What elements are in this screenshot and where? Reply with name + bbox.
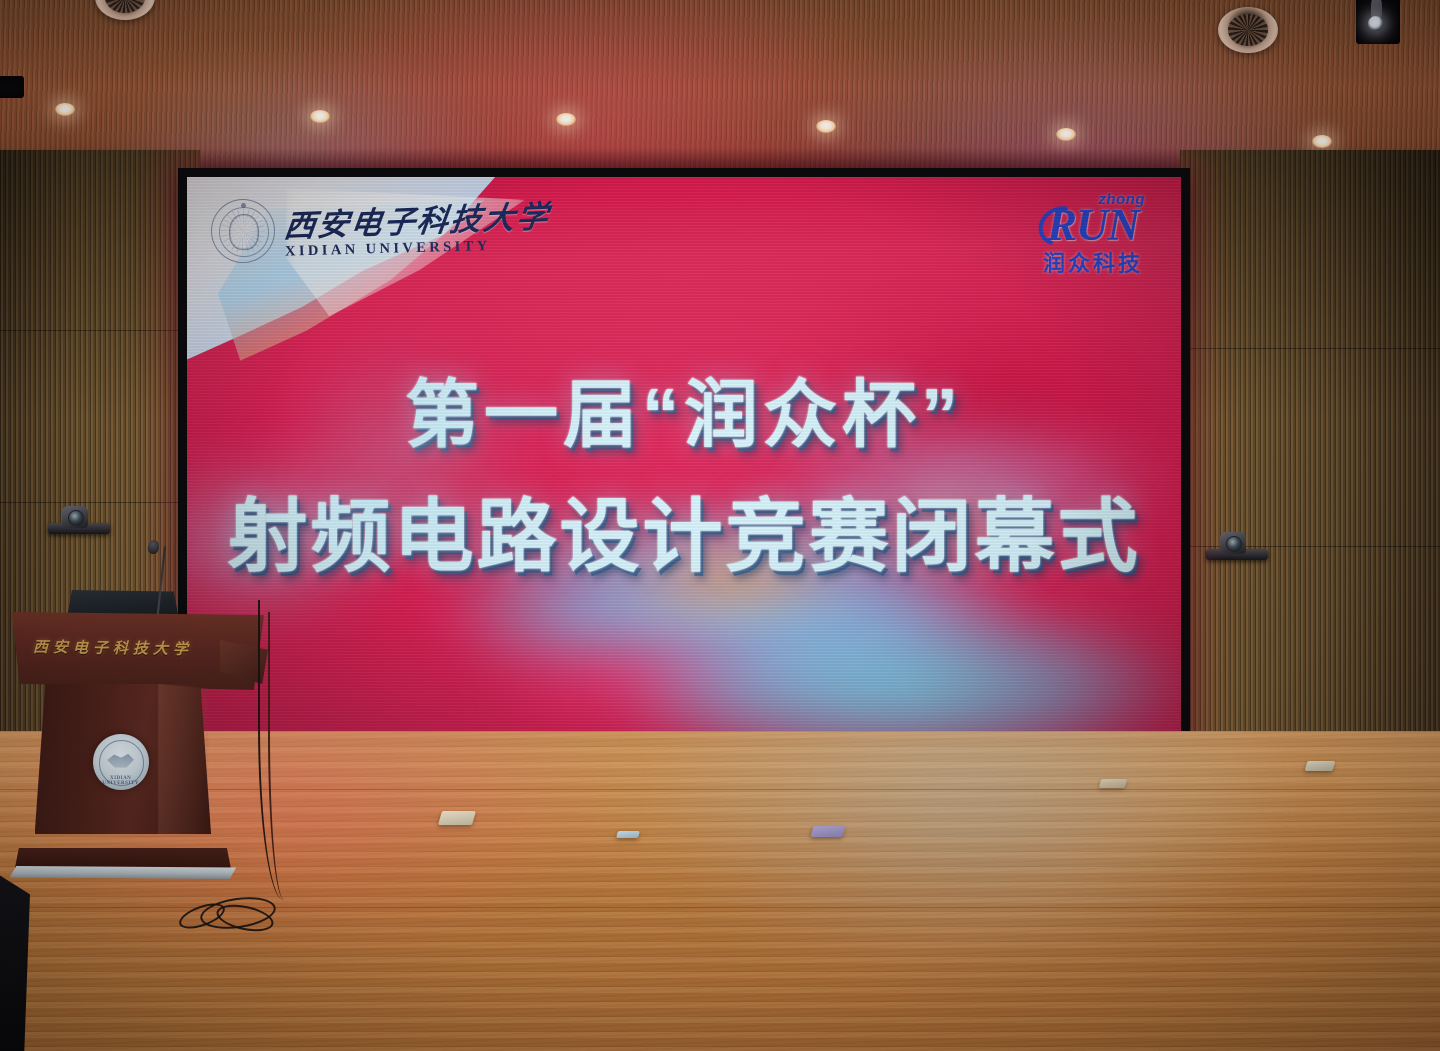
lectern-engraved-text: 西安电子科技大学	[33, 636, 193, 659]
university-logo: 西安电子科技大学 XIDIAN UNIVERSITY	[211, 199, 549, 263]
background-swirl-cyan-3	[764, 423, 1162, 546]
recessed-downlight-icon	[1312, 135, 1332, 148]
recessed-downlight-icon	[556, 113, 576, 126]
track-spotlight-icon	[1356, 0, 1400, 44]
lectern-foot-trim	[9, 866, 236, 879]
xidian-seal-icon	[211, 199, 275, 263]
floor-outlet-icon	[1305, 761, 1336, 771]
lectern-emblem: XIDIAN UNIVERSITY	[93, 734, 149, 790]
background-swirl-cyan-1	[445, 513, 1022, 703]
background-swirl-orange-1	[624, 547, 843, 614]
ceiling-slot-recess	[0, 76, 24, 98]
led-display-frame: 西安电子科技大学 XIDIAN UNIVERSITY RUNzhong 润众科技…	[178, 168, 1190, 746]
camera-lens	[1226, 536, 1242, 552]
spotlight-lamp	[1368, 16, 1383, 31]
ceremony-title-line-1: 第一届“润众杯”	[187, 355, 1181, 462]
recessed-downlight-icon	[310, 110, 330, 123]
ptz-camera-icon	[48, 506, 110, 536]
ptz-camera-icon	[1206, 532, 1268, 562]
floor-outlet-icon	[616, 831, 640, 838]
university-name-block: 西安电子科技大学 XIDIAN UNIVERSITY	[285, 206, 549, 256]
screen-bloom	[267, 334, 525, 592]
emblem-english-name: XIDIAN UNIVERSITY	[93, 776, 149, 786]
recessed-downlight-icon	[816, 120, 836, 133]
background-swirl-orange-2	[883, 502, 1022, 547]
recessed-downlight-icon	[55, 103, 75, 116]
confidence-monitor-icon	[67, 590, 178, 616]
background-swirl-cyan-2	[624, 603, 1181, 737]
sponsor-name-cn: 润众科技	[1043, 253, 1143, 275]
sponsor-superscript: zhong	[1098, 192, 1145, 207]
sponsor-logo: RUNzhong 润众科技	[1043, 203, 1143, 275]
recessed-downlight-icon	[1056, 128, 1076, 141]
sponsor-wordmark: RUNzhong	[1047, 203, 1139, 248]
university-name-cn: 西安电子科技大学	[282, 201, 551, 242]
air-diffuser-icon	[1218, 7, 1278, 53]
ceremony-title-line-2: 射频电路设计竞赛闭幕式	[187, 472, 1181, 588]
floor-outlet-icon	[438, 811, 476, 825]
seal-dot	[241, 203, 246, 208]
lectern: 西安电子科技大学 XIDIAN UNIVERSITY	[12, 612, 264, 912]
auditorium-scene: 西安电子科技大学 XIDIAN UNIVERSITY RUNzhong 润众科技…	[0, 0, 1440, 1051]
lectern-engraving-panel: 西安电子科技大学	[17, 632, 209, 663]
ceremony-title: 第一届“润众杯” 射频电路设计竞赛闭幕式	[187, 355, 1181, 588]
lectern-body-highlight	[158, 684, 208, 834]
floor-outlet-icon	[1099, 779, 1128, 788]
seal-spokes	[221, 209, 266, 254]
sponsor-swoosh-icon	[1032, 199, 1089, 253]
background-swirl-pink	[485, 636, 843, 737]
background-swirl-dark	[803, 311, 1181, 513]
led-display: 西安电子科技大学 XIDIAN UNIVERSITY RUNzhong 润众科技…	[187, 177, 1181, 737]
floor-outlet-icon	[810, 826, 845, 837]
camera-lens	[68, 510, 84, 526]
